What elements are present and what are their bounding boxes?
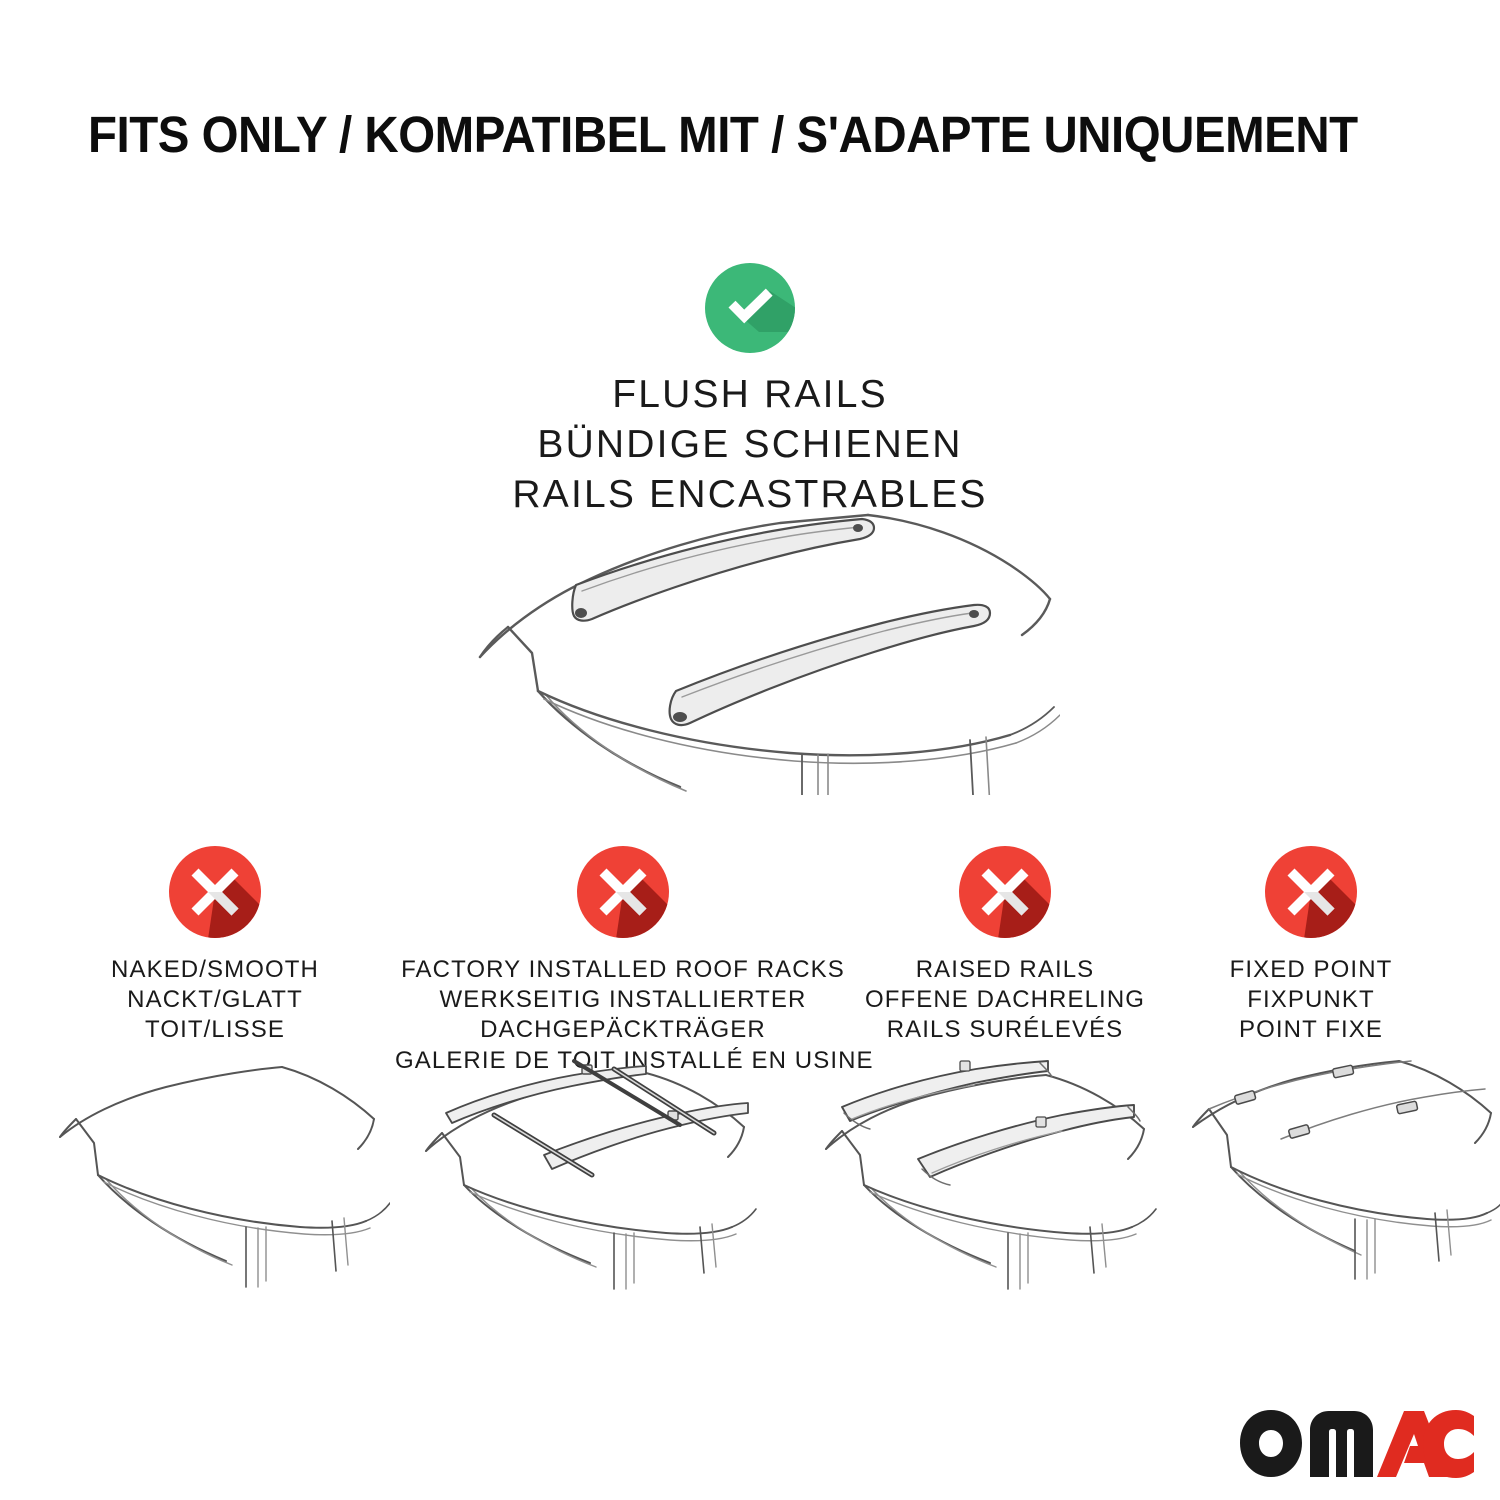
label-line-en: FACTORY INSTALLED ROOF RACKS xyxy=(395,955,851,985)
x-badge-wrap-2 xyxy=(838,845,1172,949)
car-roof-flush-rails-illustration xyxy=(450,495,1060,795)
label-line-fr: RAILS SURÉLEVÉS xyxy=(838,1015,1172,1045)
incompatible-item-fixed-point: FIXED POINT FIXPUNKT POINT FIXE xyxy=(1178,845,1444,1046)
label-line-en: NAKED/SMOOTH xyxy=(55,955,375,985)
label-line-de: OFFENE DACHRELING xyxy=(838,985,1172,1015)
car-roof-raised-rails-illustration xyxy=(818,1055,1178,1295)
x-badge-wrap-0 xyxy=(55,845,375,949)
incompatible-item-raised-rails: RAISED RAILS OFFENE DACHRELING RAILS SUR… xyxy=(838,845,1172,1046)
x-circle-icon xyxy=(958,845,1052,939)
logo-letter-m xyxy=(1310,1411,1373,1477)
omac-logo xyxy=(1238,1408,1476,1480)
check-circle-icon xyxy=(704,262,796,354)
page-title: FITS ONLY / KOMPATIBEL MIT / S'ADAPTE UN… xyxy=(88,108,1325,162)
incompatible-item-factory-racks: FACTORY INSTALLED ROOF RACKS WERKSEITIG … xyxy=(395,845,851,1076)
x-circle-icon xyxy=(576,845,670,939)
car-roof-fixed-point-illustration xyxy=(1185,1055,1500,1295)
incompatible-label-3: FIXED POINT FIXPUNKT POINT FIXE xyxy=(1178,955,1444,1046)
label-line-de: NACKT/GLATT xyxy=(55,985,375,1015)
x-circle-icon xyxy=(1264,845,1358,939)
label-line-en: RAISED RAILS xyxy=(838,955,1172,985)
incompatible-item-naked-smooth: NAKED/SMOOTH NACKT/GLATT TOIT/LISSE xyxy=(55,845,375,1046)
x-circle-icon xyxy=(168,845,262,939)
incompatible-label-0: NAKED/SMOOTH NACKT/GLATT TOIT/LISSE xyxy=(55,955,375,1046)
label-line-de-1: WERKSEITIG INSTALLIERTER xyxy=(395,985,851,1015)
label-line-fr: POINT FIXE xyxy=(1178,1015,1444,1045)
label-line-fr: TOIT/LISSE xyxy=(55,1015,375,1045)
compatible-heading-line-en: FLUSH RAILS xyxy=(0,370,1500,420)
car-roof-factory-racks-illustration xyxy=(418,1055,778,1295)
label-line-de-2: DACHGEPÄCKTRÄGER xyxy=(395,1015,851,1045)
x-badge-wrap-3 xyxy=(1178,845,1444,949)
label-line-de: FIXPUNKT xyxy=(1178,985,1444,1015)
compatible-heading-line-de: BÜNDIGE SCHIENEN xyxy=(0,420,1500,470)
logo-letter-o xyxy=(1240,1410,1302,1477)
compatible-section: FLUSH RAILS BÜNDIGE SCHIENEN RAILS ENCAS… xyxy=(0,262,1500,520)
label-line-en: FIXED POINT xyxy=(1178,955,1444,985)
car-roof-naked-smooth-illustration xyxy=(50,1055,390,1295)
incompatible-label-2: RAISED RAILS OFFENE DACHRELING RAILS SUR… xyxy=(838,955,1172,1046)
x-badge-wrap-1 xyxy=(395,845,851,949)
